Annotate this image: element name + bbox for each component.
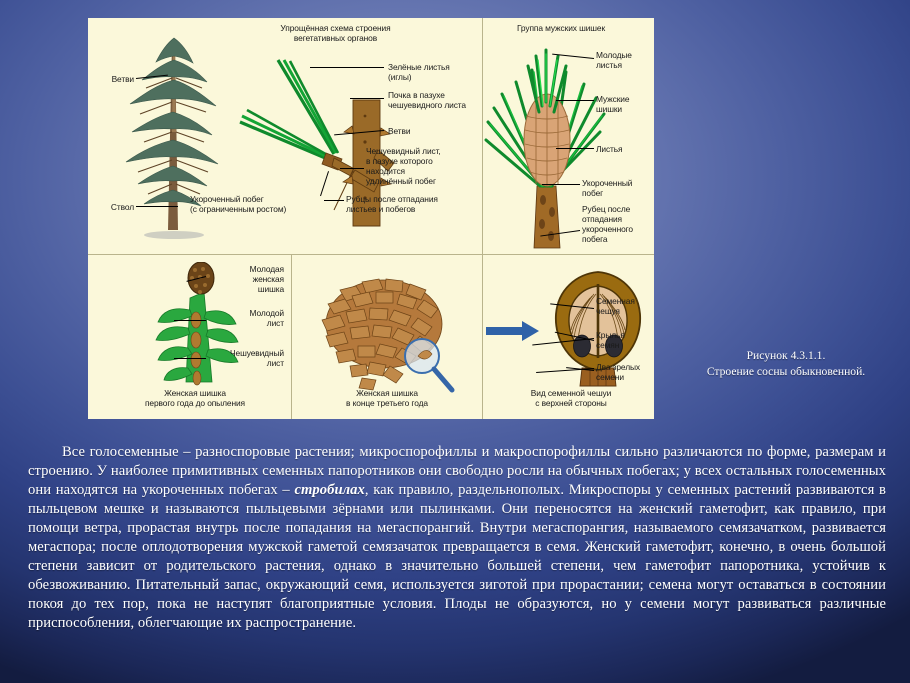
label-young-leaf: Молодой лист <box>208 308 284 328</box>
body-text-emphasis: стробилах <box>294 482 364 498</box>
label-male-cones: Мужские шишки <box>596 94 654 114</box>
figure-title: Строение сосны обыкновенной. <box>668 364 904 380</box>
leader-trunk <box>136 206 178 207</box>
label-seed-wings: Крылья семян <box>596 330 654 350</box>
panel-divider-vertical-lower-2 <box>482 254 483 419</box>
label-young-female-cone: Молодая женская шишка <box>208 264 284 294</box>
leader-leaves <box>556 148 594 149</box>
label-short-shoot: Укороченный побег (с ограниченным ростом… <box>190 194 338 214</box>
label-short-shoot-2: Укороченный побег <box>582 178 654 198</box>
heading-male-cones-group: Группа мужских шишек <box>486 23 636 33</box>
label-branches-schema: Ветви <box>388 126 448 136</box>
label-seed-scale: Семенная чешуя <box>596 296 654 316</box>
panel-divider-vertical-lower-1 <box>291 254 292 419</box>
mature-female-cone-illustration <box>300 270 470 394</box>
label-scale-leaf: Чешуевидный лист <box>198 348 284 368</box>
label-scars: Рубцы после отпадания листьев и побегов <box>346 194 482 214</box>
arrow-right-icon <box>486 320 540 342</box>
body-paragraph: Все голосеменные – разноспоровые растени… <box>28 443 886 633</box>
magnifier-icon <box>405 339 452 390</box>
body-text-part2: , как правило, раздельнополых. Микроспор… <box>28 482 886 631</box>
leader-young-leaf <box>174 320 206 321</box>
leader-scale-leaf-long-shoot <box>340 168 364 169</box>
caption-female-cone-third-year: Женская шишка в конце третьего года <box>294 388 480 408</box>
label-young-leaves: Молодые листья <box>596 50 654 70</box>
figure-number: Рисунок 4.3.1.1. <box>668 348 904 364</box>
leader-short-shoot-2 <box>542 184 580 185</box>
label-trunk: Ствол <box>92 202 134 212</box>
leader-bud-in-axil <box>350 98 384 99</box>
leader-green-leaves <box>310 67 384 68</box>
panel-divider-horizontal <box>88 254 654 255</box>
figure-panel: Ветви Ствол Упрощённая схема строения ве… <box>88 18 654 419</box>
leader-male-cones <box>556 100 594 101</box>
label-scar-short-shoot: Рубец после отпадания укороченного побег… <box>582 204 654 244</box>
leader-scale-leaf <box>174 358 206 359</box>
label-leaves: Листья <box>596 144 654 154</box>
slide-root: Ветви Ствол Упрощённая схема строения ве… <box>0 0 910 683</box>
label-two-ripe-seeds: Два зрелых семени <box>596 362 654 382</box>
heading-vegetative-scheme: Упрощённая схема строения вегетативных о… <box>248 23 423 43</box>
caption-female-cone-first-year: Женская шишка первого года до опыления <box>102 388 288 408</box>
label-branches-tree: Ветви <box>92 74 134 84</box>
figure-caption: Рисунок 4.3.1.1. Строение сосны обыкнове… <box>668 348 904 379</box>
caption-seed-scale-top-view: Вид семенной чешуи с верхней стороны <box>488 388 654 408</box>
label-scale-leaf-long-shoot: Чешуевидный лист, в пазухе которого нахо… <box>366 146 486 186</box>
